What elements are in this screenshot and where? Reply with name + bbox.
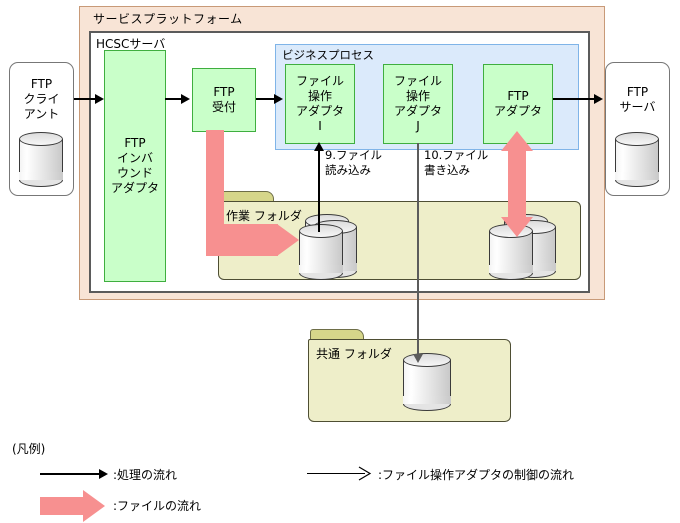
- file-flow-pink-horizontal-left: [206, 224, 278, 256]
- legend: (凡例) :処理の流れ :ファイルの流れ :ファイル操作アダプタの制御の流れ: [10, 440, 670, 515]
- control-arrowhead-step-10: [413, 354, 423, 363]
- flow-arrow-reception-to-adapter-i: [256, 98, 275, 100]
- common-folder-cylinder: [403, 353, 451, 411]
- legend-file-flow-label: :ファイルの流れ: [113, 497, 201, 514]
- ftp-inbound-adapter-box[interactable]: FTP インバ ウンド アダプタ: [104, 50, 166, 282]
- file-flow-pink-arrowhead-right: [277, 224, 299, 256]
- flow-arrowhead-client-to-inbound: [95, 94, 104, 104]
- work-folder-label: 作業 フォルダ: [226, 209, 302, 224]
- flow-arrowhead-adapter-to-server: [594, 94, 603, 104]
- legend-title: (凡例): [12, 440, 45, 457]
- file-flow-pink-vertical-right: [508, 150, 526, 218]
- work-folder-cylinder-front-1: [299, 224, 343, 280]
- flow-arrowhead-inbound-to-reception: [181, 94, 190, 104]
- legend-control-flow-label: :ファイル操作アダプタの制御の流れ: [378, 466, 574, 483]
- legend-file-flow-bar: [40, 497, 84, 515]
- file-operation-adapter-i-box[interactable]: ファイル 操作 アダプタ I: [285, 64, 355, 144]
- file-operation-adapter-i-label: ファイル 操作 アダプタ I: [296, 74, 344, 134]
- legend-file-flow-arrowhead: [83, 490, 105, 522]
- legend-control-flow-line: [307, 473, 365, 474]
- step-9-label: 9.ファイル 読み込み: [325, 148, 382, 178]
- file-operation-adapter-j-label: ファイル 操作 アダプタ J: [394, 74, 442, 134]
- control-line-step-10: [417, 143, 419, 358]
- ftp-adapter-label: FTP アダプタ: [494, 89, 542, 119]
- file-operation-adapter-j-box[interactable]: ファイル 操作 アダプタ J: [383, 64, 453, 144]
- business-process-label: ビジネスプロセス: [282, 47, 374, 63]
- control-arrowhead-step-9: [314, 142, 324, 151]
- legend-process-flow-line: [40, 473, 100, 475]
- ftp-client-label: FTP クライ アント: [10, 77, 73, 122]
- legend-process-flow-label: :処理の流れ: [113, 466, 177, 483]
- ftp-reception-box[interactable]: FTP 受付: [192, 68, 256, 132]
- ftp-reception-label: FTP 受付: [212, 85, 236, 115]
- flow-arrow-inbound-to-reception: [165, 98, 182, 100]
- ftp-inbound-adapter-label: FTP インバ ウンド アダプタ: [111, 136, 159, 196]
- ftp-server-label: FTP サーバ: [606, 85, 669, 115]
- flow-arrow-client-to-inbound: [74, 98, 96, 100]
- ftp-client-cylinder: [19, 132, 63, 187]
- flow-arrow-adapter-to-server: [553, 98, 595, 100]
- file-flow-pink-arrowhead-up: [501, 131, 533, 151]
- file-flow-pink-arrowhead-down: [501, 217, 533, 237]
- legend-process-flow-arrowhead: [99, 469, 108, 479]
- flow-arrowhead-reception-to-adapter-i: [274, 94, 283, 104]
- common-folder-label: 共通 フォルダ: [316, 347, 392, 362]
- legend-control-flow-arrowhead-svg: [358, 466, 372, 481]
- legend-control-flow-arrowhead: [358, 466, 372, 481]
- control-line-step-9: [318, 150, 320, 232]
- service-platform-label: サービスプラットフォーム: [93, 10, 243, 27]
- step-10-label: 10.ファイル 書き込み: [424, 148, 488, 178]
- ftp-server-cylinder: [615, 132, 659, 187]
